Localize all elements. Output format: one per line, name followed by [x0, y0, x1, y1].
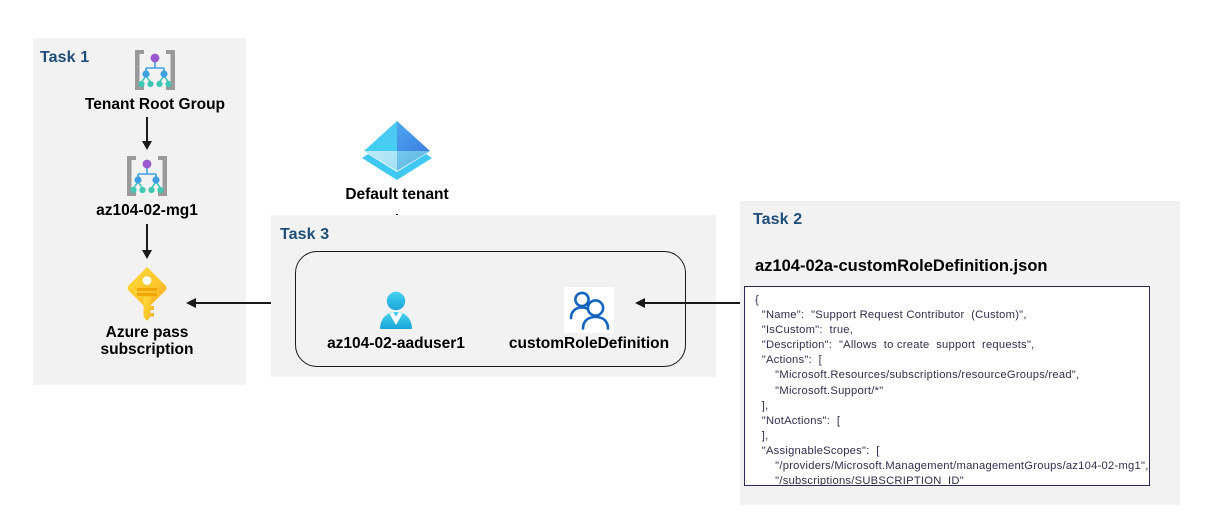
node-caption: az104-02-aaduser1 — [296, 335, 496, 352]
azure-ad-tenant-icon — [297, 118, 497, 184]
connector-tenant-root-to-mg1 — [146, 117, 148, 143]
json-definition-card[interactable]: { "Name": "Support Request Contributor (… — [744, 286, 1150, 486]
management-group-icon — [55, 46, 255, 94]
node-azure-pass-subscription[interactable]: Azure pass subscription — [47, 264, 247, 359]
key-icon — [47, 264, 247, 322]
connector-json-to-customroledefinition — [645, 302, 741, 304]
node-az104-02-mg1[interactable]: az104-02-mg1 — [47, 152, 247, 219]
task2-label: Task 2 — [753, 211, 802, 229]
node-customroledefinition[interactable]: customRoleDefinition — [489, 287, 689, 352]
json-file-name: az104-02a-customRoleDefinition.json — [755, 257, 1047, 276]
task3-label: Task 3 — [280, 226, 329, 244]
arrow-head-tenant-root-to-mg1 — [142, 141, 152, 150]
node-caption: Tenant Root Group — [55, 96, 255, 113]
arrow-head-json-to-customroledefinition — [635, 298, 645, 308]
users-group-icon — [489, 287, 689, 333]
node-az104-02-aaduser1[interactable]: az104-02-aaduser1 — [296, 289, 496, 352]
user-icon — [296, 289, 496, 333]
diagram-canvas: Task 1 Tenant Root Group — [0, 0, 1212, 522]
node-caption: az104-02-mg1 — [47, 202, 247, 219]
node-caption: customRoleDefinition — [489, 335, 689, 352]
arrow-head-mg1-to-subscription — [142, 250, 152, 259]
arrow-head-task3-to-subscription — [186, 298, 196, 308]
management-group-icon — [47, 152, 247, 200]
connector-mg1-to-subscription — [146, 224, 148, 252]
node-default-tenant[interactable]: Default tenant — [297, 118, 497, 203]
node-caption: Default tenant — [297, 186, 497, 203]
node-tenant-root-group[interactable]: Tenant Root Group — [55, 46, 255, 113]
node-caption: Azure pass subscription — [47, 324, 247, 359]
json-definition-text: { "Name": "Support Request Contributor (… — [755, 293, 1143, 486]
